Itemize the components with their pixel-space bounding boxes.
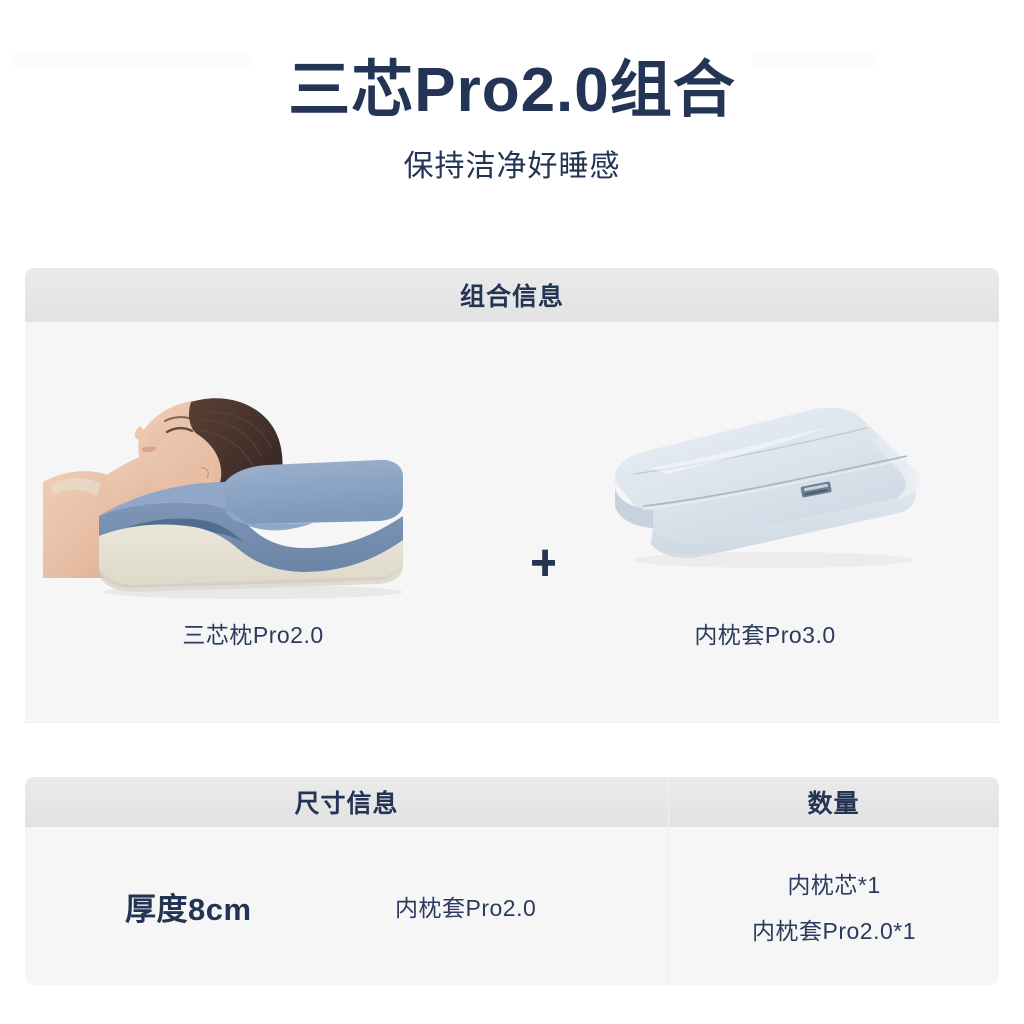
page-header: 三芯Pro2.0组合 保持洁净好睡感	[0, 56, 1024, 185]
product-item-cover[interactable]: 内枕套Pro3.0	[555, 364, 975, 684]
page-title: 三芯Pro2.0组合	[0, 56, 1024, 125]
specs-cell-size: 厚度8cm 内枕套Pro2.0	[25, 827, 669, 985]
specs-header-cell-size: 尺寸信息	[25, 777, 668, 827]
specs-cell-quantity: 内枕芯*1 内枕套Pro2.0*1	[669, 827, 999, 985]
product-pair: 三芯枕Pro2.0 +	[25, 322, 999, 722]
specs-table-body: 厚度8cm 内枕套Pro2.0 内枕芯*1 内枕套Pro2.0*1	[25, 827, 999, 985]
combo-info-panel: 组合信息	[25, 268, 999, 722]
pillow-cover-illustration	[555, 364, 975, 604]
specs-heading-size: 尺寸信息	[294, 784, 398, 820]
specs-panel: 尺寸信息 数量 厚度8cm 内枕套Pro2.0 内枕芯*1 内枕套Pro2.0*…	[25, 777, 999, 985]
quantity-line-inner-cover: 内枕套Pro2.0*1	[752, 912, 916, 946]
pillow-with-model-illustration	[43, 364, 463, 604]
page-subtitle: 保持洁净好睡感	[0, 141, 1024, 185]
specs-header-cell-quantity: 数量	[668, 777, 999, 827]
product-label-pillow: 三芯枕Pro2.0	[43, 616, 463, 650]
specs-heading-quantity: 数量	[807, 784, 859, 820]
spec-cover-value: 内枕套Pro2.0	[395, 889, 536, 923]
ergonomic-pillow-with-model-icon	[43, 364, 463, 604]
combo-info-heading: 组合信息	[460, 277, 564, 313]
pillow-inner-cover-icon	[555, 364, 975, 604]
combo-info-body: 三芯枕Pro2.0 +	[25, 322, 999, 722]
specs-table-header: 尺寸信息 数量	[25, 777, 999, 827]
combo-info-header: 组合信息	[25, 268, 999, 322]
spec-thickness-value: 厚度8cm	[125, 884, 252, 929]
product-label-cover: 内枕套Pro3.0	[555, 616, 975, 650]
product-item-pillow[interactable]: 三芯枕Pro2.0	[43, 364, 463, 684]
quantity-line-inner-core: 内枕芯*1	[787, 866, 880, 900]
